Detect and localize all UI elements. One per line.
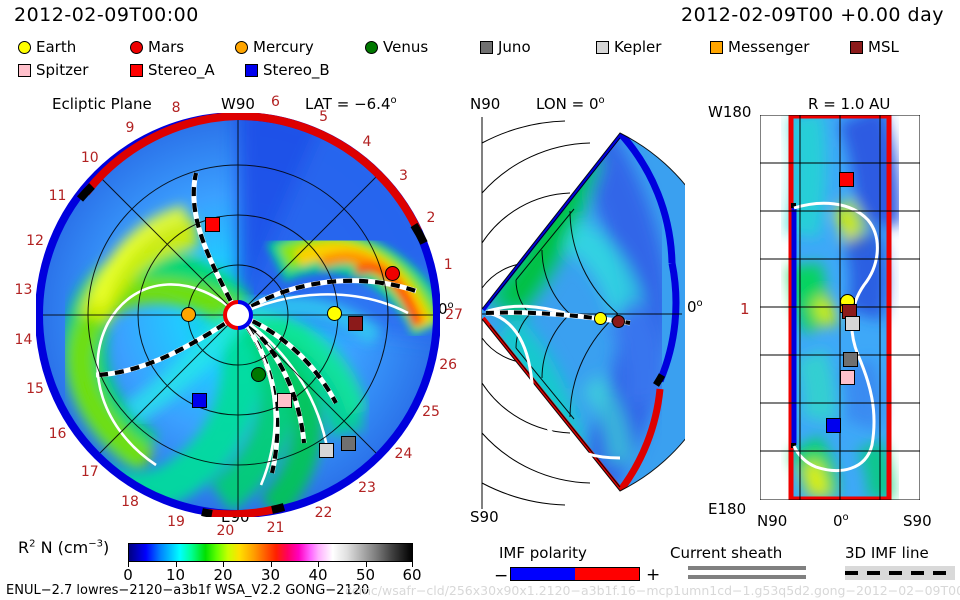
ecliptic-hour-label-1: 1 [444,257,453,273]
source-watermark: ccmc/wsafr−cld/256x30x90x1.2120−a3b1f.16… [345,583,960,598]
marker-stereo_b[interactable] [192,393,207,408]
timestamp-right: 2012-02-09T00 +0.00 day [681,4,944,26]
legend-label: Kepler [614,40,661,55]
ecliptic-plane-plot[interactable] [36,113,440,517]
marker-msl[interactable] [612,315,625,328]
degree-sup: o [599,95,605,106]
radial-panel-title: R = 1.0 AU [808,95,890,113]
legend-label: Spitzer [36,63,88,78]
colorbar-label-close: ) [103,538,109,557]
ecliptic-hour-label-20: 20 [217,523,235,539]
radial-1au-plot[interactable] [760,115,920,500]
legend-item-earth[interactable]: Earth [18,36,76,59]
ecliptic-hour-label-12: 12 [26,233,44,249]
legend-item-juno[interactable]: Juno [480,36,531,59]
ecliptic-hour-label-4: 4 [363,134,372,150]
imf-polarity-bar [510,567,640,581]
colorbar-tick-label: 10 [166,566,185,584]
zero-value: 0 [833,512,843,530]
density-colorbar[interactable] [128,543,413,562]
legend-item-venus[interactable]: Venus [365,36,428,59]
marker-stereo_a[interactable] [839,172,854,187]
marker-stereo_a[interactable] [205,217,220,232]
marker-earth[interactable] [327,306,342,321]
current-sheath-title: Current sheath [670,544,782,562]
legend-row-2: SpitzerStereo_AStereo_B [10,59,950,82]
legend-item-mars[interactable]: Mars [130,36,184,59]
radial-y-tick-label: 1 [740,300,750,318]
earth-marker-icon [18,41,31,54]
ecliptic-hour-label-5: 5 [319,109,328,125]
lon-value: LON = 0 [536,95,599,113]
colorbar-label: R2 N (cm−3) [18,538,109,557]
juno-marker-icon [480,41,493,54]
stereo_a-marker-icon [130,64,143,77]
marker-kepler[interactable] [319,443,334,458]
ecliptic-density-field [36,113,440,517]
colorbar-tick-label: 20 [213,566,232,584]
legend-label: MSL [868,40,899,55]
degree-sup: o [843,512,849,523]
ecliptic-hour-label-19: 19 [167,514,185,530]
marker-spitzer[interactable] [277,393,292,408]
legend-label: Stereo_B [263,63,330,78]
legend-item-stereo_b[interactable]: Stereo_B [245,59,330,82]
marker-stereo_b[interactable] [826,418,841,433]
kepler-marker-icon [596,41,609,54]
msl-marker-icon [850,41,863,54]
marker-spitzer[interactable] [840,370,855,385]
timestamp-left: 2012-02-09T00:00 [14,4,199,26]
colorbar-label-units: N (cm [36,538,89,557]
ecliptic-hour-label-23: 23 [358,480,376,496]
ecliptic-hour-label-17: 17 [81,464,99,480]
legend-item-spitzer[interactable]: Spitzer [18,59,88,82]
model-run-footer: ENUL−2.7 lowres−2120−a3b1f WSA_V2.2 GONG… [6,583,369,598]
spitzer-marker-icon [18,64,31,77]
meridional-top-label: N90 [470,95,500,113]
ecliptic-hour-label-2: 2 [427,210,436,226]
marker-juno[interactable] [843,352,858,367]
radial-x-label-zero: 0o [833,512,849,530]
messenger-marker-icon [710,41,723,54]
legend-label: Earth [36,40,76,55]
legend-item-mercury[interactable]: Mercury [235,36,314,59]
ecliptic-hour-label-10: 10 [81,150,99,166]
radial-x-label-s90: S90 [903,512,932,530]
marker-earth[interactable] [594,312,607,325]
ecliptic-hour-label-16: 16 [49,426,67,442]
colorbar-tick-label: 50 [356,566,375,584]
ecliptic-hour-label-21: 21 [267,520,285,536]
radial-topleft-label: W180 [708,103,751,121]
meridional-lon-label: LON = 0o [536,95,605,113]
imf-line-swatch [845,566,955,580]
marker-kepler[interactable] [845,316,860,331]
colorbar-tick-label: 40 [308,566,327,584]
marker-mercury[interactable] [181,307,196,322]
ecliptic-hour-label-22: 22 [315,505,333,521]
mars-marker-icon [130,41,143,54]
legend-item-kepler[interactable]: Kepler [596,36,661,59]
colorbar-tick-label: 0 [123,566,133,584]
meridional-density-field [470,113,685,513]
ecliptic-hour-label-13: 13 [15,282,33,298]
ecliptic-hour-label-6: 6 [271,94,280,110]
ecliptic-hour-label-14: 14 [15,332,33,348]
current-sheath-swatch [688,566,806,582]
venus-marker-icon [365,41,378,54]
degree-sup: o [391,95,397,106]
ecliptic-hour-label-15: 15 [26,381,44,397]
imf-plus-label: + [646,565,660,585]
stereo_b-marker-icon [245,64,258,77]
colorbar-tick-label: 30 [261,566,280,584]
marker-juno[interactable] [341,436,356,451]
legend-label: Stereo_A [148,63,215,78]
legend-label: Messenger [728,40,809,55]
legend-label: Mars [148,40,184,55]
ecliptic-hour-label-9: 9 [126,120,135,136]
radial-bottomleft-label: E180 [708,500,746,518]
colorbar-tick-label: 60 [402,566,421,584]
marker-mars[interactable] [385,266,400,281]
imf-line-title: 3D IMF line [845,544,929,562]
legend-item-messenger[interactable]: Messenger [710,36,809,59]
lat-value: LAT = −6.4 [305,95,391,113]
mercury-marker-icon [235,41,248,54]
colorbar-label-exp2: −3 [88,539,103,550]
marker-venus[interactable] [251,367,266,382]
legend-label: Mercury [253,40,314,55]
meridional-right-label: 0o [687,298,703,316]
ecliptic-hour-label-24: 24 [395,446,413,462]
marker-msl[interactable] [348,316,363,331]
meridional-plane-plot[interactable] [470,113,685,513]
ecliptic-hour-label-3: 3 [399,168,408,184]
legend-item-msl[interactable]: MSL [850,36,899,59]
ecliptic-hour-label-8: 8 [172,100,181,116]
ecliptic-panel-title: Ecliptic Plane [52,95,152,113]
imf-polarity-title: IMF polarity [499,544,587,562]
ecliptic-hour-label-18: 18 [121,494,139,510]
ecliptic-hour-label-11: 11 [49,188,67,204]
colorbar-label-r: R [18,538,29,557]
legend-item-stereo_a[interactable]: Stereo_A [130,59,215,82]
ecliptic-hour-label-25: 25 [422,404,440,420]
body-legend: EarthMarsMercuryVenusJunoKeplerMessenger… [10,36,950,82]
ecliptic-hour-label-26: 26 [439,357,457,373]
legend-row-1: EarthMarsMercuryVenusJunoKeplerMessenger… [10,36,950,59]
ecliptic-field-clip [36,113,440,517]
ecliptic-hour-label-27: 27 [445,307,463,323]
ecliptic-top-label: W90 [221,95,255,113]
legend-label: Venus [383,40,428,55]
legend-label: Juno [498,40,531,55]
zero-value: 0 [687,298,697,316]
radial-x-label-n90: N90 [757,512,787,530]
degree-sup: o [697,298,703,309]
